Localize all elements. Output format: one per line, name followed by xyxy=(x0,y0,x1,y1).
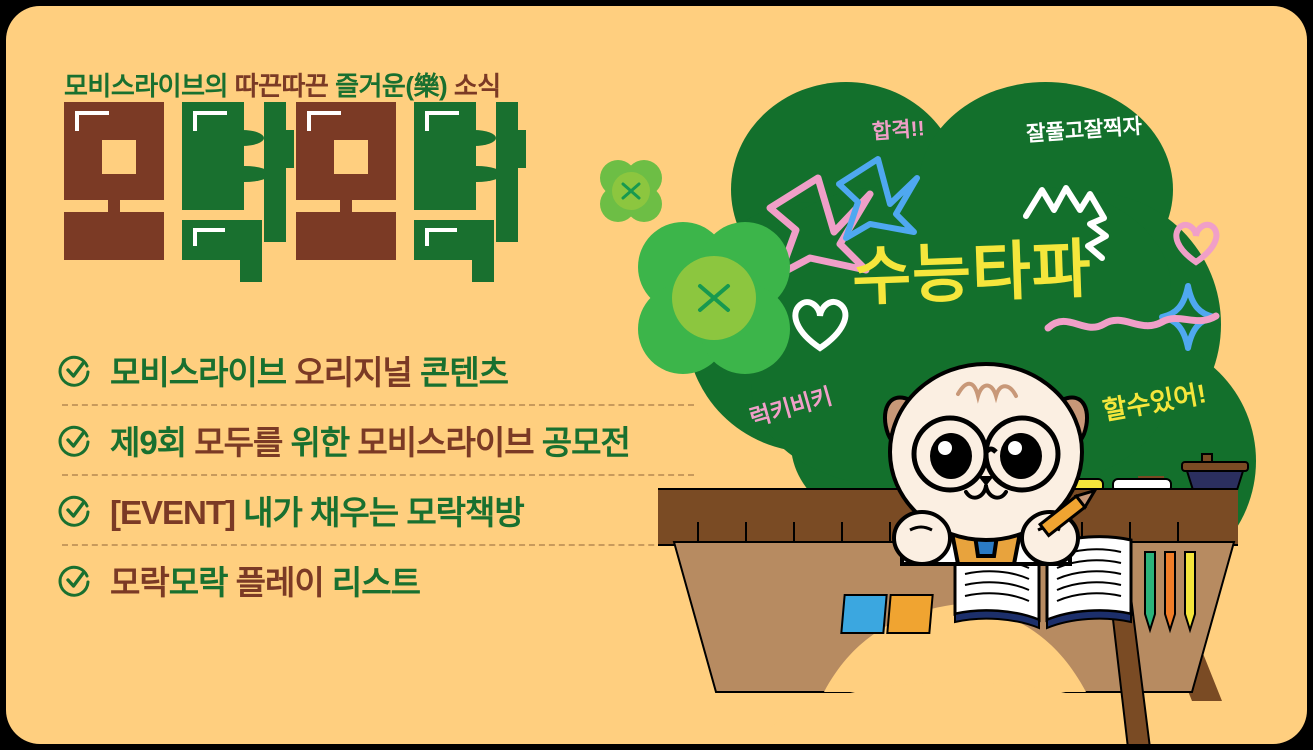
subtitle: 모비스라이브의 따끈따끈 즐거운(樂) 소식 xyxy=(64,66,501,103)
newsletter-card: 모비스라이브의 따끈따끈 즐거운(樂) 소식 모비스라이브 오리지널 콘텐츠제9… xyxy=(6,6,1307,744)
illustration: 합격!! 잘풀고잘찍자 럭키비키 할수있어! 수능타파 xyxy=(566,6,1307,744)
list-item-2-part-0: [EVENT] xyxy=(110,494,243,531)
list-item-3-part-3: 리스트 xyxy=(332,564,420,601)
list-item-0-part-2: 콘텐츠 xyxy=(420,354,508,391)
list-item-1-part-3: 모비스라이브 xyxy=(357,424,541,461)
circle-check-icon xyxy=(58,493,92,527)
list-item-1-part-1: 모두를 xyxy=(194,424,290,461)
chalk-note-pass: 합격!! xyxy=(871,112,926,146)
list-item-1-part-0: 제9회 xyxy=(110,424,194,461)
pink-heart-doodle xyxy=(1170,218,1222,266)
circle-check-icon xyxy=(58,563,92,597)
list-item-3-part-1: 모락 xyxy=(169,564,236,601)
board-headline: 수능타파 xyxy=(850,218,1093,318)
circle-check-icon xyxy=(58,353,92,387)
logo-glyph-3-rak xyxy=(414,102,524,262)
list-item-2-part-2: 모락책방 xyxy=(406,494,523,531)
subtitle-part-3: 소식 xyxy=(454,71,501,101)
list-item-label: 모락모락 플레이 리스트 xyxy=(110,556,420,604)
list-item-3-part-0: 모락 xyxy=(110,564,169,601)
large-clover xyxy=(634,218,794,378)
logo-moraengmorak xyxy=(64,102,514,272)
list-item-3-part-2: 플레이 xyxy=(236,564,332,601)
pink-wave-doodle xyxy=(1044,306,1222,342)
studying-cat-character xyxy=(866,356,1126,606)
white-heart-doodle xyxy=(788,294,852,354)
small-clover xyxy=(598,158,664,224)
logo-glyph-0-mo xyxy=(64,102,174,262)
list-item-0-part-1: 오리지널 xyxy=(294,354,420,391)
list-item-1-part-2: 위한 xyxy=(291,424,358,461)
list-item-2-part-1: 내가 채우는 xyxy=(243,494,406,531)
logo-glyph-2-mo xyxy=(296,102,406,262)
list-item-label: 제9회 모두를 위한 모비스라이브 공모전 xyxy=(110,416,630,464)
subtitle-part-2: 즐거운(樂) xyxy=(335,71,454,101)
pencil-set xyxy=(1141,552,1203,634)
circle-check-icon xyxy=(58,423,92,457)
list-item-label: [EVENT] 내가 채우는 모락책방 xyxy=(110,486,524,534)
list-item-label: 모비스라이브 오리지널 콘텐츠 xyxy=(110,346,508,394)
logo-glyph-1-rak xyxy=(182,102,292,262)
subtitle-part-1: 따끈따끈 xyxy=(235,71,335,101)
subtitle-part-0: 모비스라이브의 xyxy=(64,71,235,101)
list-item-0-part-0: 모비스라이브 xyxy=(110,354,294,391)
